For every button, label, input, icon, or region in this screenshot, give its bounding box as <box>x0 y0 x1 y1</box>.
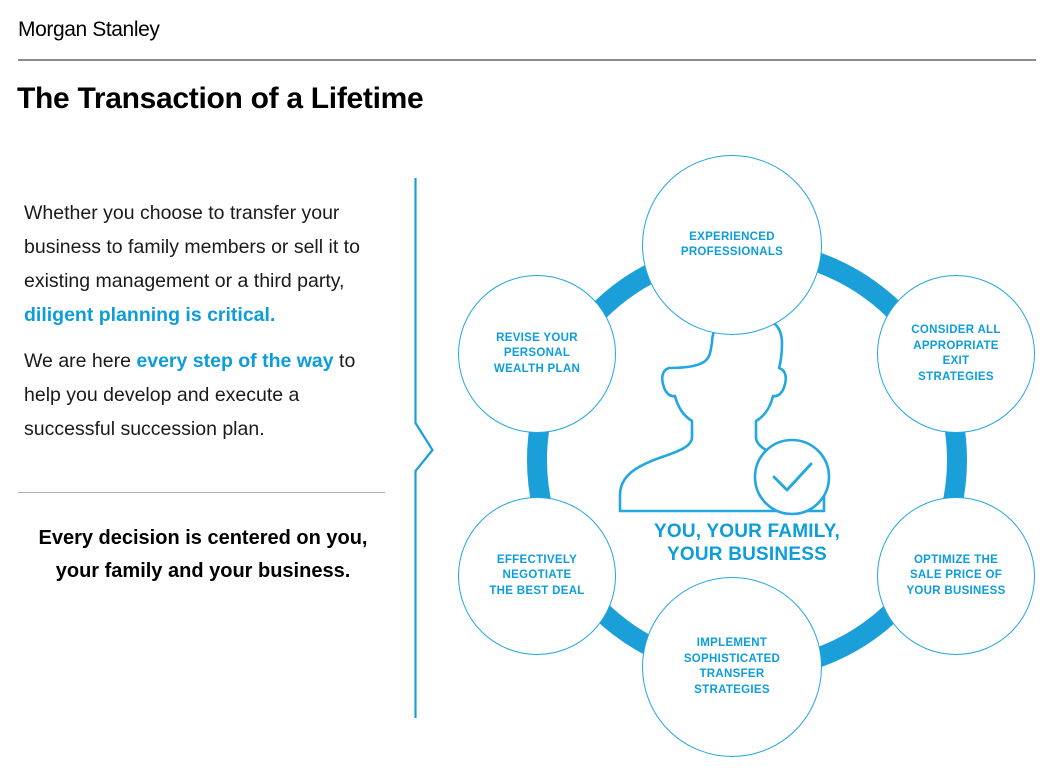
callout-text: Every decision is centered on you, your … <box>24 522 382 588</box>
intro-paragraph-2-text-before: We are here <box>24 350 136 372</box>
node-optimize-the-sale-price-of-your-business[interactable]: OPTIMIZE THE SALE PRICE OF YOUR BUSINESS <box>877 497 1035 655</box>
intro-paragraph-1-highlight: diligent planning is critical. <box>24 304 275 326</box>
node-line: EXPERIENCED <box>689 230 775 246</box>
node-label: OPTIMIZE THE SALE PRICE OF YOUR BUSINESS <box>878 498 1034 654</box>
process-cycle-diagram: YOU, YOUR FAMILY, YOUR BUSINESS EXPERIEN… <box>440 165 1054 755</box>
node-line: REVISE YOUR <box>496 331 578 347</box>
node-line: STRATEGIES <box>918 370 994 386</box>
center-label-line1: YOU, YOUR FAMILY, <box>600 520 894 543</box>
node-consider-all-appropriate-exit-strategies[interactable]: CONSIDER ALL APPROPRIATE EXIT STRATEGIES <box>877 275 1035 433</box>
center-label-line2: YOUR BUSINESS <box>600 543 894 566</box>
node-line: YOUR BUSINESS <box>906 584 1005 600</box>
node-experienced-professionals[interactable]: EXPERIENCED PROFESSIONALS <box>642 155 822 335</box>
node-line: IMPLEMENT <box>697 636 767 652</box>
node-line: THE BEST DEAL <box>489 584 584 600</box>
left-column-divider <box>18 492 385 493</box>
intro-text-block: Whether you choose to transfer your busi… <box>24 196 394 446</box>
node-line: CONSIDER ALL <box>911 323 1000 339</box>
node-line: EXIT <box>943 354 970 370</box>
node-label: EXPERIENCED PROFESSIONALS <box>643 156 821 334</box>
node-effectively-negotiate-the-best-deal[interactable]: EFFECTIVELY NEGOTIATE THE BEST DEAL <box>458 497 616 655</box>
node-label: IMPLEMENT SOPHISTICATED TRANSFER STRATEG… <box>643 578 821 756</box>
node-label: CONSIDER ALL APPROPRIATE EXIT STRATEGIES <box>878 276 1034 432</box>
node-label: EFFECTIVELY NEGOTIATE THE BEST DEAL <box>459 498 615 654</box>
intro-paragraph-1: Whether you choose to transfer your busi… <box>24 196 394 332</box>
brand-logo: Morgan Stanley <box>18 18 159 42</box>
node-label: REVISE YOUR PERSONAL WEALTH PLAN <box>459 276 615 432</box>
node-line: PERSONAL <box>504 346 570 362</box>
check-badge-icon <box>755 440 829 514</box>
node-line: EFFECTIVELY <box>497 553 577 569</box>
node-line: SALE PRICE OF <box>910 568 1002 584</box>
node-line: WEALTH PLAN <box>494 362 580 378</box>
node-line: PROFESSIONALS <box>681 245 783 261</box>
intro-paragraph-2: We are here every step of the way to hel… <box>24 344 394 446</box>
page-title: The Transaction of a Lifetime <box>17 82 423 116</box>
node-line: NEGOTIATE <box>503 568 572 584</box>
center-label: YOU, YOUR FAMILY, YOUR BUSINESS <box>600 520 894 566</box>
node-line: APPROPRIATE <box>913 339 999 355</box>
intro-paragraph-1-text: Whether you choose to transfer your busi… <box>24 202 360 292</box>
node-line: SOPHISTICATED <box>684 652 780 668</box>
intro-paragraph-2-highlight: every step of the way <box>136 350 333 372</box>
node-line: TRANSFER <box>699 667 764 683</box>
node-line: STRATEGIES <box>694 683 770 699</box>
node-implement-sophisticated-transfer-strategies[interactable]: IMPLEMENT SOPHISTICATED TRANSFER STRATEG… <box>642 577 822 757</box>
node-line: OPTIMIZE THE <box>914 553 998 569</box>
node-revise-your-personal-wealth-plan[interactable]: REVISE YOUR PERSONAL WEALTH PLAN <box>458 275 616 433</box>
header-divider <box>18 59 1036 61</box>
